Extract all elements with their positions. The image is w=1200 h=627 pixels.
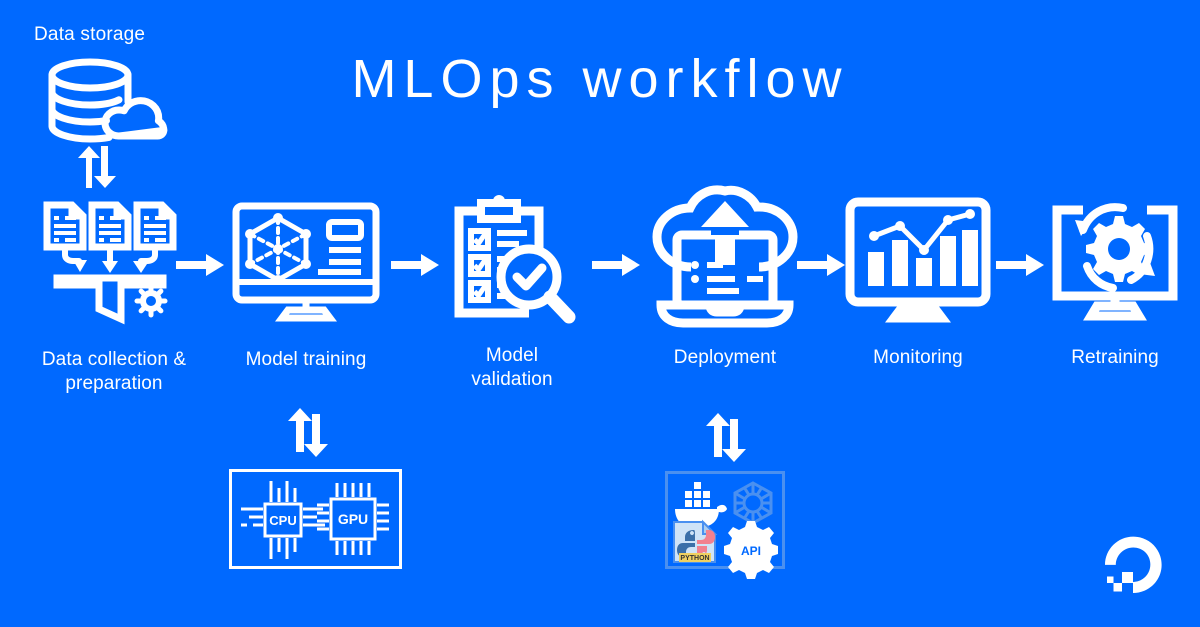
monitor-cube-network-icon	[230, 198, 382, 326]
hardware-bidirectional-arrows	[285, 408, 333, 456]
stage-deployment[interactable]: Deployment	[640, 192, 810, 370]
monitor-gear-refresh-icon	[1043, 194, 1187, 324]
stage-label-line1: Model training	[246, 348, 367, 372]
pipeline-arrow-1	[176, 254, 224, 276]
stage-label-line1: Monitoring	[873, 346, 963, 370]
stage-label-line1: Deployment	[674, 346, 776, 370]
stage-label-model-validation: Model validation	[471, 344, 552, 391]
cpu-chip-label: CPU	[269, 513, 296, 528]
pipeline-arrow-3	[592, 254, 640, 276]
stage-retraining[interactable]: Retraining	[1036, 194, 1194, 370]
tools-bidirectional-arrows	[703, 413, 751, 461]
kubernetes-helm-icon	[734, 483, 772, 523]
stage-label-retraining: Retraining	[1071, 346, 1159, 370]
laptop-cloud-upload-icon	[647, 192, 803, 328]
digitalocean-logo	[1104, 535, 1162, 593]
docker-whale-icon	[675, 482, 727, 527]
stage-label-deployment: Deployment	[674, 346, 776, 370]
stage-monitoring[interactable]: Monitoring	[838, 194, 998, 370]
data-storage-label: Data storage	[34, 24, 145, 46]
stage-label-line1: Model	[471, 344, 552, 368]
stage-label-data-collection: Data collection & preparation	[42, 348, 186, 395]
hardware-box[interactable]: CPU GPU	[229, 469, 402, 569]
api-label: API	[741, 544, 761, 558]
tools-box[interactable]: PYTHON API	[665, 471, 785, 569]
database-cloud-icon	[44, 58, 164, 150]
stage-label-model-training: Model training	[246, 348, 367, 372]
data-storage-bidirectional-arrows	[72, 146, 120, 188]
diagram-canvas: MLOps workflow Data storage	[0, 0, 1200, 627]
stage-model-validation[interactable]: Model validation	[432, 194, 592, 391]
stage-label-line1: Data collection &	[42, 348, 186, 372]
api-gear-icon: API	[724, 521, 778, 579]
gpu-chip-label: GPU	[338, 511, 368, 527]
stage-label-line2: validation	[471, 368, 552, 392]
stage-label-line1: Retraining	[1071, 346, 1159, 370]
stage-label-monitoring: Monitoring	[873, 346, 963, 370]
stage-data-collection[interactable]: Data collection & preparation	[16, 198, 212, 395]
clipboard-checklist-magnifier-icon	[441, 194, 583, 328]
documents-funnel-gear-icon	[39, 198, 189, 326]
monitor-bar-line-chart-icon	[844, 194, 992, 324]
python-label: PYTHON	[680, 555, 709, 562]
stage-model-training[interactable]: Model training	[222, 198, 390, 372]
stage-label-line2: preparation	[42, 372, 186, 396]
page-title: MLOps workflow	[0, 52, 1200, 106]
python-file-icon: PYTHON	[674, 522, 715, 562]
